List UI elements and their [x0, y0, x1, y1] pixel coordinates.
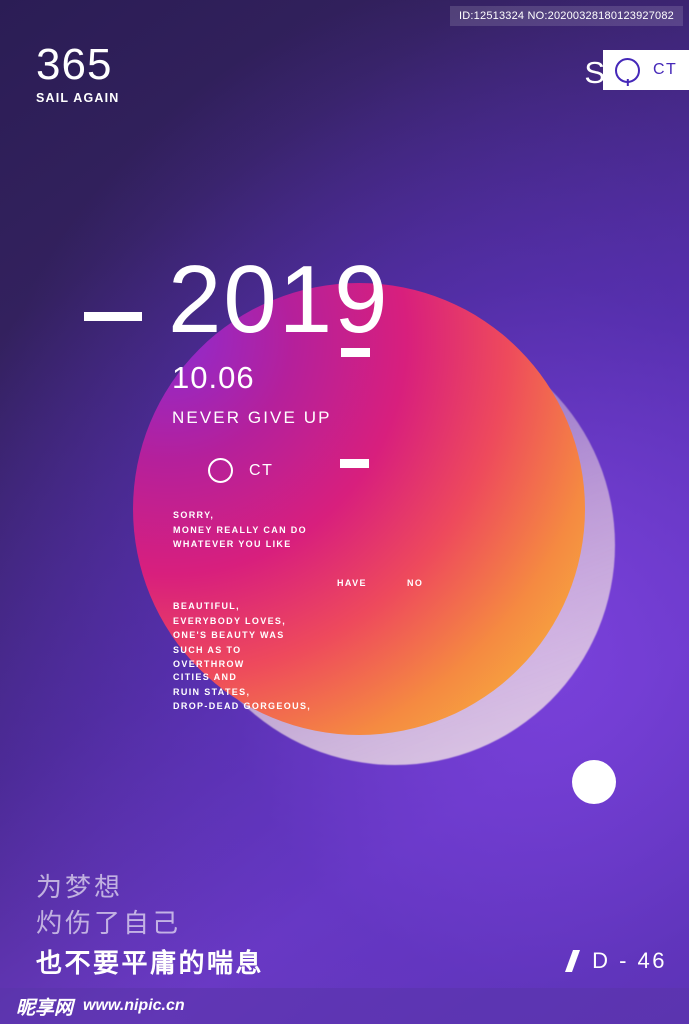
hero-year: 2019: [168, 252, 390, 348]
watermark-url: www.nipic.cn: [83, 997, 185, 1015]
logo-label: CT: [653, 61, 677, 79]
brand-block: 365 SAIL AGAIN: [36, 44, 120, 105]
hero-year-row: 2019: [84, 252, 390, 348]
brand-subtitle: SAIL AGAIN: [36, 91, 120, 105]
inner-mark-label: CT: [249, 462, 274, 480]
code-text: D - 46: [592, 948, 667, 974]
bottom-text-line-2: 灼伤了自己: [36, 910, 181, 936]
inner-mark: CT: [208, 458, 274, 483]
bottom-text-line-3: 也不要平庸的喘息: [36, 950, 264, 976]
circle-outline-icon: [208, 458, 233, 483]
watermark-id: ID:12513324 NO:20200328180123927082: [450, 6, 683, 26]
bottom-text-line-1: 为梦想: [36, 874, 123, 900]
floating-word-have: HAVE: [337, 578, 367, 588]
code-row: D - 46: [569, 948, 667, 974]
copy-block-3: CITIES AND RUIN STATES, DROP-DEAD GORGEO…: [173, 670, 311, 714]
hero-tagline: NEVER GIVE UP: [172, 408, 332, 428]
hero-dash-icon: [84, 312, 142, 321]
hero-date: 10.06: [172, 362, 255, 393]
copy-block-1: SORRY, MONEY REALLY CAN DO WHATEVER YOU …: [173, 508, 307, 552]
watermark-logo: 昵享网: [16, 993, 73, 1020]
circle-q-logo-icon: [615, 58, 640, 83]
slash-icon: [565, 950, 580, 972]
logo-box: CT: [603, 50, 689, 90]
brand-number: 365: [36, 44, 120, 86]
mini-dash-icon-2: [340, 459, 369, 468]
poster-canvas: 365 SAIL AGAIN S CT 2019 10.06 NEVER GIV…: [0, 0, 689, 1024]
mini-dash-icon-1: [341, 348, 370, 357]
floating-word-no: NO: [407, 578, 423, 588]
logo-letter-s: S: [584, 57, 605, 88]
copy-block-2: BEAUTIFUL, EVERYBODY LOVES, ONE'S BEAUTY…: [173, 599, 286, 672]
watermark-bar: 昵享网 www.nipic.cn: [0, 988, 689, 1024]
logo-lockup: S CT: [584, 50, 689, 90]
white-dot-shape: [572, 760, 616, 804]
